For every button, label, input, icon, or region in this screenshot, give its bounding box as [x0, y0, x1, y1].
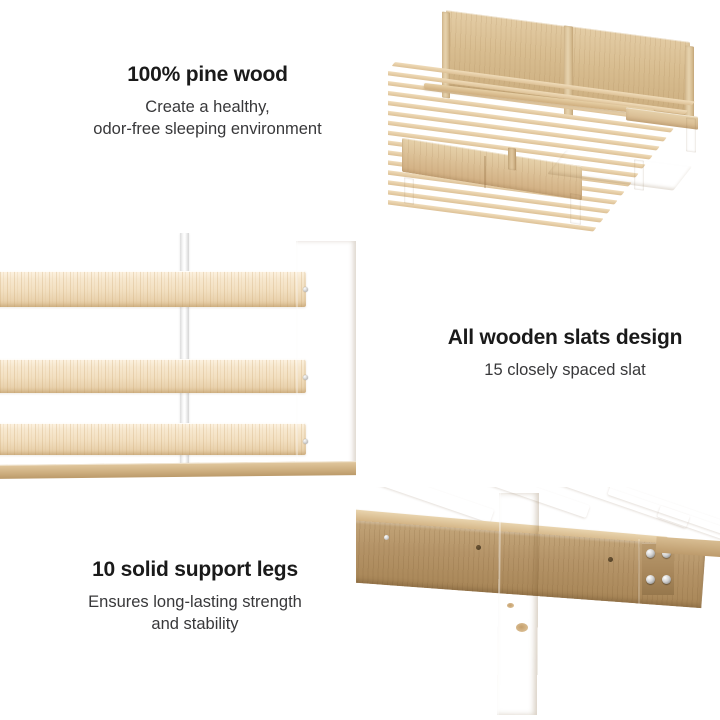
ledger-screw	[608, 557, 613, 562]
bracket-bolt	[646, 575, 655, 584]
ledger-screw	[476, 545, 481, 550]
bed-leg-front-right	[570, 193, 581, 225]
feature-subtitle-line: 15 closely spaced slat	[420, 360, 710, 382]
cross-rail	[668, 635, 720, 661]
feature-subtitle-line: odor-free sleeping environment	[20, 119, 395, 141]
ledger-screw	[384, 535, 389, 540]
product-photo-support-leg-detail	[356, 487, 720, 720]
bed-leg-mid-right	[634, 159, 644, 190]
slat-screw	[303, 287, 308, 292]
oak-side-rail	[296, 241, 356, 469]
feature-title-pine-wood: 100% pine wood	[20, 62, 395, 88]
feature-subtitle-wooden-slats: 15 closely spaced slat	[420, 360, 710, 382]
feature-subtitle-line: Ensures long-lasting strength	[30, 592, 360, 614]
feature-subtitle-pine-wood: Create a healthy, odor-free sleeping env…	[20, 97, 395, 141]
bracket-bolt	[662, 575, 671, 584]
feature-subtitle-line: Create a healthy,	[20, 97, 395, 119]
bed-leg-head-right	[686, 117, 696, 152]
feature-block-support-legs: 10 solid support legs Ensures long-lasti…	[30, 557, 360, 636]
pine-slat	[0, 423, 306, 455]
feature-block-pine-wood: 100% pine wood Create a healthy, odor-fr…	[20, 62, 395, 141]
feature-title-wooden-slats: All wooden slats design	[420, 325, 710, 351]
base-rail	[0, 461, 356, 479]
bed-leg-centre-support	[508, 147, 516, 170]
rail-inner-edge	[296, 241, 302, 469]
bed-frame-illustration	[388, 0, 720, 232]
pine-slat	[0, 359, 306, 393]
wood-knot	[516, 623, 528, 632]
pine-support-post	[497, 493, 539, 715]
slat-screw	[303, 375, 308, 380]
slat-screw	[303, 439, 308, 444]
feature-subtitle-line: and stability	[30, 614, 360, 636]
bed-leg-front-left	[404, 177, 414, 205]
feature-subtitle-support-legs: Ensures long-lasting strength and stabil…	[30, 592, 360, 636]
infographic-canvas: 100% pine wood Create a healthy, odor-fr…	[0, 0, 720, 720]
bracket-bolt	[646, 549, 655, 558]
feature-block-wooden-slats: All wooden slats design 15 closely space…	[420, 325, 710, 382]
foot-rail-seam	[484, 156, 486, 188]
wood-knot	[507, 603, 514, 608]
product-photo-slat-closeup	[0, 233, 356, 479]
feature-title-support-legs: 10 solid support legs	[30, 557, 360, 583]
product-photo-full-bed-frame	[388, 0, 720, 232]
pine-slat	[0, 271, 306, 307]
